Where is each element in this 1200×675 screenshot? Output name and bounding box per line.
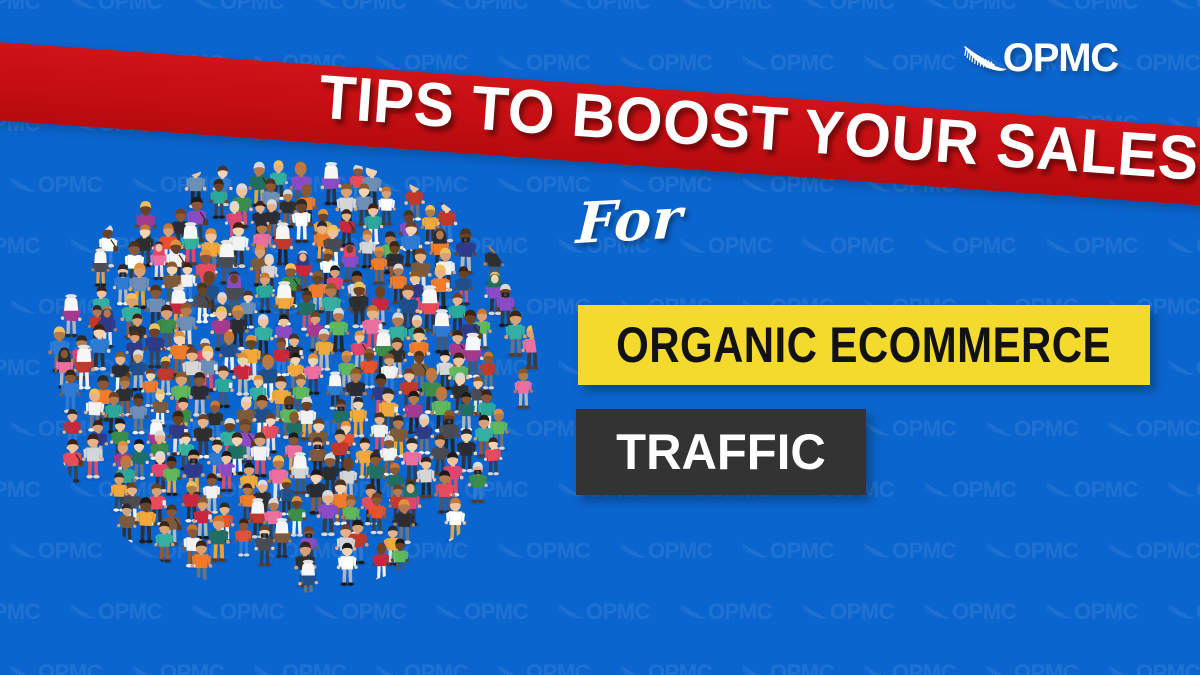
watermark-tile: OPMC [620,52,742,74]
watermark-label: OPMC [830,601,894,623]
watermark-fern-icon [70,0,96,11]
watermark-fern-icon [498,664,524,675]
watermark-fern-icon [620,664,646,675]
watermark-tile: OPMC [924,479,1046,501]
watermark-fern-icon [1168,359,1194,377]
highlight-organic-ecommerce: ORGANIC ECOMMERCE [578,305,1150,385]
watermark-tile: OPMC [1168,235,1200,257]
watermark-label: OPMC [1196,479,1200,501]
watermark-label: OPMC [708,601,772,623]
watermark-fern-icon [924,0,950,11]
watermark-label: OPMC [526,662,590,675]
watermark-tile: OPMC [864,418,986,440]
watermark-tile: OPMC [1108,418,1200,440]
watermark-fern-icon [192,0,218,11]
watermark-row: OPMCOPMCOPMCOPMCOPMCOPMCOPMCOPMCOPMCOPMC… [0,0,1200,22]
highlight-label-1: ORGANIC ECOMMERCE [617,320,1112,370]
watermark-label: OPMC [98,0,162,13]
watermark-fern-icon [742,664,768,675]
watermark-label: OPMC [1074,235,1138,257]
watermark-tile: OPMC [864,540,986,562]
watermark-label: OPMC [648,540,712,562]
watermark-fern-icon [924,237,950,255]
watermark-tile: OPMC [1046,0,1168,13]
watermark-fern-icon [254,664,280,675]
watermark-label: OPMC [1196,235,1200,257]
watermark-tile: OPMC [498,52,620,74]
watermark-label: OPMC [1136,662,1200,675]
watermark-tile: OPMC [620,540,742,562]
watermark-fern-icon [802,237,828,255]
crowd-person [91,248,110,288]
watermark-label: OPMC [404,662,468,675]
watermark-tile: OPMC [558,0,680,13]
watermark-fern-icon [802,603,828,621]
watermark-label: OPMC [282,662,346,675]
watermark-label: OPMC [1196,0,1200,13]
watermark-fern-icon [132,664,158,675]
watermark-fern-icon [1168,603,1194,621]
watermark-label: OPMC [1014,540,1078,562]
watermark-label: OPMC [160,662,224,675]
watermark-tile: OPMC [986,540,1108,562]
watermark-fern-icon [1108,664,1134,675]
watermark-label: OPMC [892,540,956,562]
watermark-tile: OPMC [1046,601,1168,623]
watermark-label: OPMC [1014,418,1078,440]
watermark-tile: OPMC [498,662,620,675]
watermark-tile: OPMC [680,601,802,623]
watermark-label: OPMC [648,52,712,74]
fern-swoosh-icon [963,44,1007,75]
watermark-tile: OPMC [1168,357,1200,379]
watermark-tile: OPMC [132,662,254,675]
watermark-label: OPMC [586,601,650,623]
watermark-fern-icon [376,664,402,675]
highlight-traffic: TRAFFIC [576,409,866,495]
watermark-label: OPMC [1196,357,1200,379]
watermark-label: OPMC [1074,479,1138,501]
watermark-tile: OPMC [742,662,864,675]
watermark-tile: OPMC [70,0,192,13]
watermark-fern-icon [864,664,890,675]
watermark-label: OPMC [586,0,650,13]
watermark-fern-icon [1108,542,1134,560]
watermark-fern-icon [1108,420,1134,438]
watermark-fern-icon [680,0,706,11]
watermark-fern-icon [620,54,646,72]
watermark-fern-icon [1046,481,1072,499]
watermark-label: OPMC [830,235,894,257]
watermark-tile: OPMC [680,235,802,257]
watermark-fern-icon [742,542,768,560]
watermark-fern-icon [1168,237,1194,255]
banner-canvas: OPMCOPMCOPMCOPMCOPMCOPMCOPMCOPMCOPMCOPMC… [0,0,1200,675]
watermark-fern-icon [986,420,1012,438]
watermark-label: OPMC [952,479,1016,501]
watermark-fern-icon [742,54,768,72]
watermark-label: OPMC [1074,601,1138,623]
watermark-label: OPMC [38,662,102,675]
watermark-fern-icon [680,603,706,621]
watermark-label: OPMC [342,0,406,13]
watermark-label: OPMC [830,0,894,13]
watermark-fern-icon [620,542,646,560]
watermark-label: OPMC [892,662,956,675]
watermark-label: OPMC [952,0,1016,13]
watermark-label: OPMC [952,601,1016,623]
watermark-tile: OPMC [1108,540,1200,562]
watermark-tile: OPMC [986,662,1108,675]
watermark-fern-icon [558,0,584,11]
watermark-label: OPMC [1014,662,1078,675]
crowd-person [234,518,253,558]
brand-logo-text: OPMC [1003,38,1118,78]
watermark-label: OPMC [892,52,956,74]
crowd-person [513,368,533,411]
watermark-tile: OPMC [1168,0,1200,13]
watermark-fern-icon [986,542,1012,560]
watermark-tile: OPMC [254,662,376,675]
watermark-label: OPMC [1136,52,1200,74]
watermark-fern-icon [986,664,1012,675]
watermark-label: OPMC [0,0,40,13]
watermark-fern-icon [1168,481,1194,499]
watermark-tile: OPMC [1108,52,1200,74]
watermark-fern-icon [498,54,524,72]
watermark-tile: OPMC [802,235,924,257]
watermark-tile: OPMC [742,52,864,74]
watermark-tile: OPMC [10,662,132,675]
watermark-label: OPMC [526,52,590,74]
watermark-tile: OPMC [192,0,314,13]
watermark-tile: OPMC [742,540,864,562]
watermark-tile: OPMC [376,662,498,675]
watermark-label: OPMC [892,418,956,440]
watermark-tile: OPMC [1108,662,1200,675]
watermark-tile: OPMC [924,235,1046,257]
watermark-fern-icon [802,0,828,11]
watermark-tile: OPMC [436,0,558,13]
highlight-label-2: TRAFFIC [616,427,826,477]
watermark-fern-icon [864,542,890,560]
watermark-label: OPMC [220,0,284,13]
watermark-label: OPMC [1136,418,1200,440]
watermark-fern-icon [680,237,706,255]
watermark-tile: OPMC [0,0,70,13]
crowd-person [415,457,436,501]
watermark-row: OPMCOPMCOPMCOPMCOPMCOPMCOPMCOPMCOPMCOPMC… [10,653,1200,675]
watermark-label: OPMC [1196,601,1200,623]
watermark-label: OPMC [464,0,528,13]
watermark-tile: OPMC [1168,601,1200,623]
watermark-fern-icon [10,664,36,675]
watermark-fern-icon [1168,0,1194,11]
watermark-label: OPMC [648,662,712,675]
watermark-label: OPMC [770,540,834,562]
brand-logo: OPMC [963,38,1118,78]
watermark-tile: OPMC [924,0,1046,13]
watermark-fern-icon [864,54,890,72]
watermark-tile: OPMC [986,418,1108,440]
watermark-fern-icon [924,481,950,499]
watermark-label: OPMC [952,235,1016,257]
watermark-tile: OPMC [1046,235,1168,257]
crowd-person [61,439,83,485]
watermark-tile: OPMC [1046,479,1168,501]
watermark-tile: OPMC [924,601,1046,623]
watermark-fern-icon [436,0,462,11]
watermark-tile: OPMC [802,0,924,13]
watermark-tile: OPMC [314,0,436,13]
watermark-tile: OPMC [620,662,742,675]
crowd-person [128,393,148,436]
watermark-fern-icon [1046,0,1072,11]
watermark-label: OPMC [708,0,772,13]
watermark-tile: OPMC [864,662,986,675]
watermark-tile: OPMC [802,601,924,623]
isometric-crowd-illustration [18,150,578,610]
watermark-label: OPMC [1074,0,1138,13]
watermark-fern-icon [314,0,340,11]
watermark-fern-icon [742,176,768,194]
for-script-label: For [575,190,684,252]
watermark-fern-icon [1046,603,1072,621]
watermark-label: OPMC [770,662,834,675]
watermark-fern-icon [864,420,890,438]
watermark-fern-icon [1046,237,1072,255]
watermark-label: OPMC [708,235,772,257]
watermark-tile: OPMC [680,0,802,13]
watermark-label: OPMC [1136,540,1200,562]
watermark-label: OPMC [770,52,834,74]
watermark-tile: OPMC [1168,479,1200,501]
watermark-fern-icon [924,603,950,621]
